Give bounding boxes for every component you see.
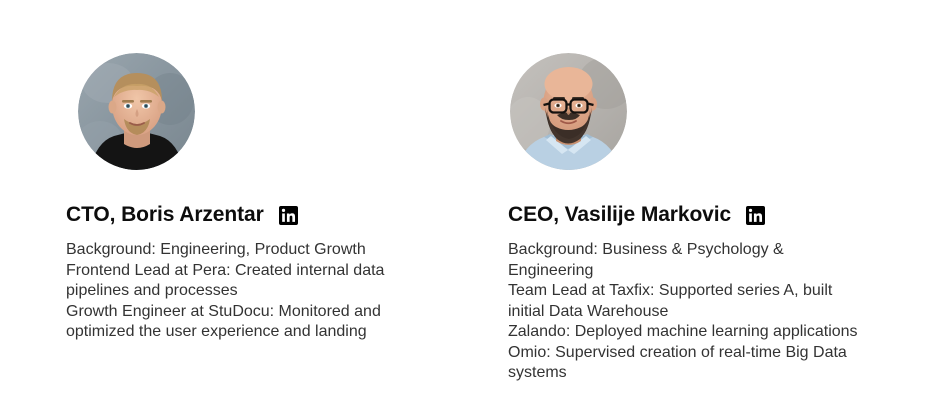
profile-bio: Background: Engineering, Product Growth … — [66, 240, 411, 343]
profile-card-ceo: CEO, Vasilije Markovic Background: Busin… — [508, 53, 908, 384]
linkedin-icon[interactable] — [746, 206, 765, 225]
profile-card-cto: CTO, Boris Arzentar Background: Engineer… — [66, 53, 466, 343]
avatar-photo — [510, 53, 627, 170]
linkedin-icon[interactable] — [279, 206, 298, 225]
avatar — [510, 53, 627, 170]
profile-bio: Background: Business & Psychology & Engi… — [508, 240, 858, 384]
profile-name: CTO, Boris Arzentar — [66, 202, 264, 228]
avatar — [78, 53, 195, 170]
profile-name-row: CEO, Vasilije Markovic — [508, 202, 908, 228]
team-profiles-section: CTO, Boris Arzentar Background: Engineer… — [0, 0, 948, 412]
profile-name: CEO, Vasilije Markovic — [508, 202, 731, 228]
profile-name-row: CTO, Boris Arzentar — [66, 202, 466, 228]
avatar-photo — [78, 53, 195, 170]
